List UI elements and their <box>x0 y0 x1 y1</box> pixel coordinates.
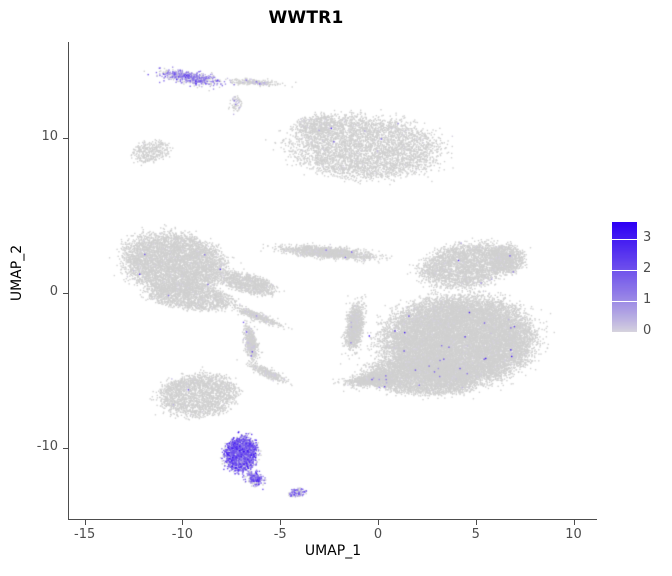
colorbar-tick-mark <box>612 239 637 240</box>
y-tick-label: 10 <box>10 129 58 144</box>
x-tick-label: 10 <box>550 527 598 542</box>
y-tick-mark <box>63 138 68 139</box>
colorbar-tick-label: 0 <box>643 323 651 338</box>
y-tick-label: -10 <box>10 439 58 454</box>
colorbar-tick-label: 1 <box>643 292 651 307</box>
scatter-plot-canvas <box>69 42 597 519</box>
x-tick-mark <box>476 520 477 525</box>
colorbar-tick-label: 3 <box>643 230 651 245</box>
x-tick-label: 5 <box>452 527 500 542</box>
x-axis-title: UMAP_1 <box>69 543 597 559</box>
x-axis-line <box>68 519 597 520</box>
colorbar-tick-mark <box>612 332 637 333</box>
x-tick-mark <box>85 520 86 525</box>
x-tick-mark <box>378 520 379 525</box>
y-tick-mark <box>63 448 68 449</box>
x-tick-mark <box>574 520 575 525</box>
colorbar-tick-mark <box>612 270 637 271</box>
y-tick-mark <box>63 293 68 294</box>
x-tick-label: 0 <box>354 527 402 542</box>
colorbar-tick-label: 2 <box>643 261 651 276</box>
x-tick-mark <box>280 520 281 525</box>
umap-feature-plot: WWTR1 -15-10-50510 -10010 UMAP_1 UMAP_2 … <box>0 0 672 576</box>
x-tick-label: -5 <box>256 527 304 542</box>
y-axis-title: UMAP_2 <box>9 193 25 353</box>
x-tick-mark <box>182 520 183 525</box>
x-tick-label: -15 <box>61 527 109 542</box>
colorbar-tick-mark <box>612 301 637 302</box>
x-tick-label: -10 <box>158 527 206 542</box>
page-title: WWTR1 <box>0 8 612 28</box>
y-axis-line <box>68 42 69 520</box>
